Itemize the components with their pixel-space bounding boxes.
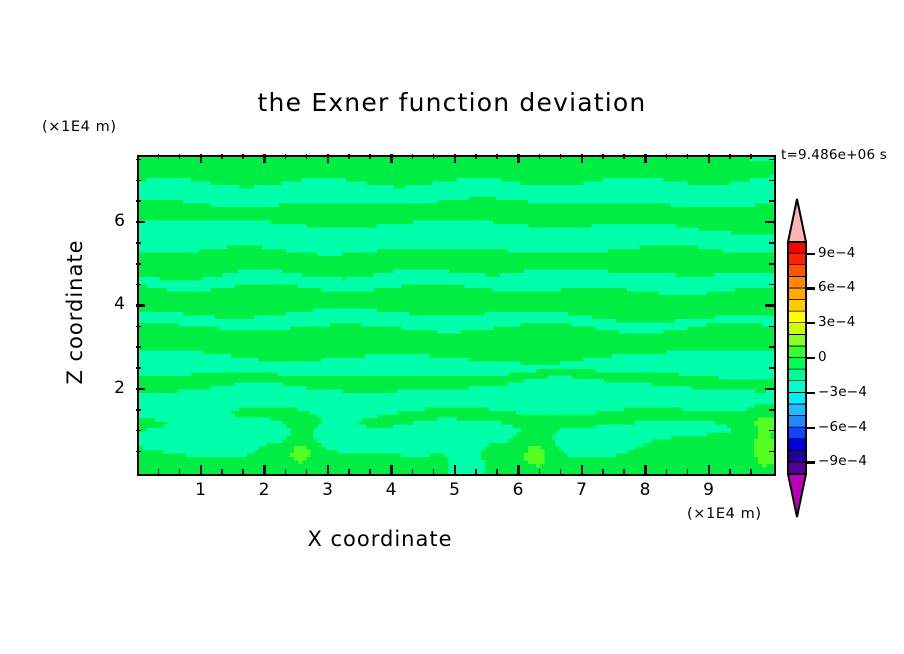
y-tick-label: 6	[85, 211, 125, 231]
colorbar-tick	[806, 461, 815, 463]
x-tick-minor	[666, 469, 668, 474]
x-tick-minor	[412, 154, 414, 159]
x-tick-minor	[666, 154, 668, 159]
colorbar-tick-label: −9e−4	[818, 453, 867, 469]
colorbar-tick	[806, 253, 815, 255]
y-tick-minor	[769, 180, 774, 182]
x-tick-minor	[179, 469, 181, 474]
y-tick-major	[136, 388, 145, 391]
x-tick-minor	[348, 469, 350, 474]
y-tick-minor	[136, 200, 141, 202]
x-tick-major	[708, 465, 711, 474]
x-tick-minor	[369, 469, 371, 474]
x-tick-label: 4	[371, 480, 411, 500]
x-tick-minor	[623, 154, 625, 159]
x-tick-minor	[369, 154, 371, 159]
x-tick-major	[263, 465, 266, 474]
figure-canvas: the Exner function deviation (×1E4 m) (×…	[0, 0, 904, 654]
x-tick-minor	[623, 469, 625, 474]
y-tick-minor	[769, 346, 774, 348]
x-tick-major	[454, 154, 457, 163]
y-tick-major	[765, 304, 774, 307]
contour-plot-area	[137, 155, 776, 476]
x-tick-minor	[242, 469, 244, 474]
y-tick-minor	[136, 159, 141, 161]
x-tick-major	[200, 465, 203, 474]
x-tick-label: 8	[625, 480, 665, 500]
x-tick-minor	[306, 154, 308, 159]
x-tick-minor	[306, 469, 308, 474]
y-tick-minor	[769, 409, 774, 411]
x-tick-major	[390, 465, 393, 474]
x-tick-major	[708, 154, 711, 163]
x-tick-minor	[602, 154, 604, 159]
x-tick-major	[390, 154, 393, 163]
x-tick-major	[581, 465, 584, 474]
y-tick-minor	[136, 263, 141, 265]
y-tick-minor	[136, 409, 141, 411]
y-tick-minor	[136, 180, 141, 182]
x-axis-title: X coordinate	[0, 527, 760, 551]
y-tick-major	[136, 304, 145, 307]
y-tick-minor	[769, 242, 774, 244]
x-tick-minor	[285, 154, 287, 159]
y-tick-minor	[769, 326, 774, 328]
x-tick-label: 3	[308, 480, 348, 500]
y-tick-label: 2	[85, 378, 125, 398]
x-tick-minor	[221, 469, 223, 474]
y-tick-minor	[769, 430, 774, 432]
colorbar-tick	[806, 392, 815, 394]
y-tick-minor	[769, 263, 774, 265]
x-tick-minor	[475, 469, 477, 474]
x-tick-major	[517, 465, 520, 474]
y-tick-label: 4	[85, 294, 125, 314]
x-tick-minor	[496, 469, 498, 474]
x-tick-minor	[687, 469, 689, 474]
x-tick-minor	[221, 154, 223, 159]
colorbar-tick-label: −3e−4	[818, 384, 867, 400]
x-tick-label: 5	[435, 480, 475, 500]
y-tick-minor	[769, 159, 774, 161]
y-tick-minor	[769, 451, 774, 453]
colorbar-tick-label: 0	[818, 349, 827, 365]
y-tick-major	[765, 221, 774, 224]
contour-field	[139, 157, 774, 474]
y-tick-minor	[136, 367, 141, 369]
x-tick-minor	[158, 154, 160, 159]
y-tick-minor	[769, 367, 774, 369]
x-tick-label: 7	[562, 480, 602, 500]
colorbar-tick	[806, 322, 815, 324]
x-tick-minor	[729, 154, 731, 159]
x-tick-label: 2	[244, 480, 284, 500]
x-tick-minor	[496, 154, 498, 159]
x-tick-major	[581, 154, 584, 163]
y-tick-minor	[136, 284, 141, 286]
x-tick-label: 1	[181, 480, 221, 500]
x-tick-minor	[560, 469, 562, 474]
x-tick-minor	[729, 469, 731, 474]
y-tick-minor	[136, 326, 141, 328]
x-tick-minor	[179, 154, 181, 159]
x-axis-unit-label: (×1E4 m)	[687, 506, 762, 522]
x-tick-major	[644, 154, 647, 163]
colorbar-tick-label: −6e−4	[818, 419, 867, 435]
timestamp-annotation: t=9.486e+06 s	[781, 147, 887, 163]
colorbar-tick-label: 3e−4	[818, 314, 856, 330]
x-tick-minor	[687, 154, 689, 159]
x-tick-minor	[475, 154, 477, 159]
x-tick-major	[517, 154, 520, 163]
y-tick-minor	[136, 430, 141, 432]
y-tick-minor	[769, 284, 774, 286]
x-tick-minor	[348, 154, 350, 159]
x-tick-major	[327, 154, 330, 163]
x-tick-minor	[433, 154, 435, 159]
colorbar-tick	[806, 287, 815, 289]
page-title: the Exner function deviation	[0, 88, 904, 117]
x-tick-label: 9	[689, 480, 729, 500]
x-tick-major	[644, 465, 647, 474]
x-tick-minor	[750, 154, 752, 159]
x-tick-minor	[602, 469, 604, 474]
x-tick-minor	[285, 469, 287, 474]
x-tick-minor	[750, 469, 752, 474]
x-tick-minor	[412, 469, 414, 474]
x-tick-minor	[560, 154, 562, 159]
x-tick-label: 6	[498, 480, 538, 500]
colorbar-tick-label: 6e−4	[818, 279, 856, 295]
y-tick-minor	[136, 242, 141, 244]
x-tick-minor	[539, 154, 541, 159]
y-axis-unit-label: (×1E4 m)	[42, 119, 117, 135]
x-tick-minor	[242, 154, 244, 159]
colorbar-tick	[806, 357, 815, 359]
y-tick-minor	[769, 200, 774, 202]
colorbar-tick	[806, 427, 815, 429]
y-tick-minor	[136, 451, 141, 453]
y-tick-major	[765, 388, 774, 391]
x-tick-minor	[433, 469, 435, 474]
y-tick-minor	[136, 346, 141, 348]
x-tick-minor	[158, 469, 160, 474]
colorbar-tick-label: 9e−4	[818, 245, 856, 261]
x-tick-major	[263, 154, 266, 163]
y-axis-title: Z coordinate	[63, 202, 87, 422]
x-tick-minor	[539, 469, 541, 474]
x-tick-major	[454, 465, 457, 474]
y-tick-major	[136, 221, 145, 224]
x-tick-major	[327, 465, 330, 474]
x-tick-major	[200, 154, 203, 163]
